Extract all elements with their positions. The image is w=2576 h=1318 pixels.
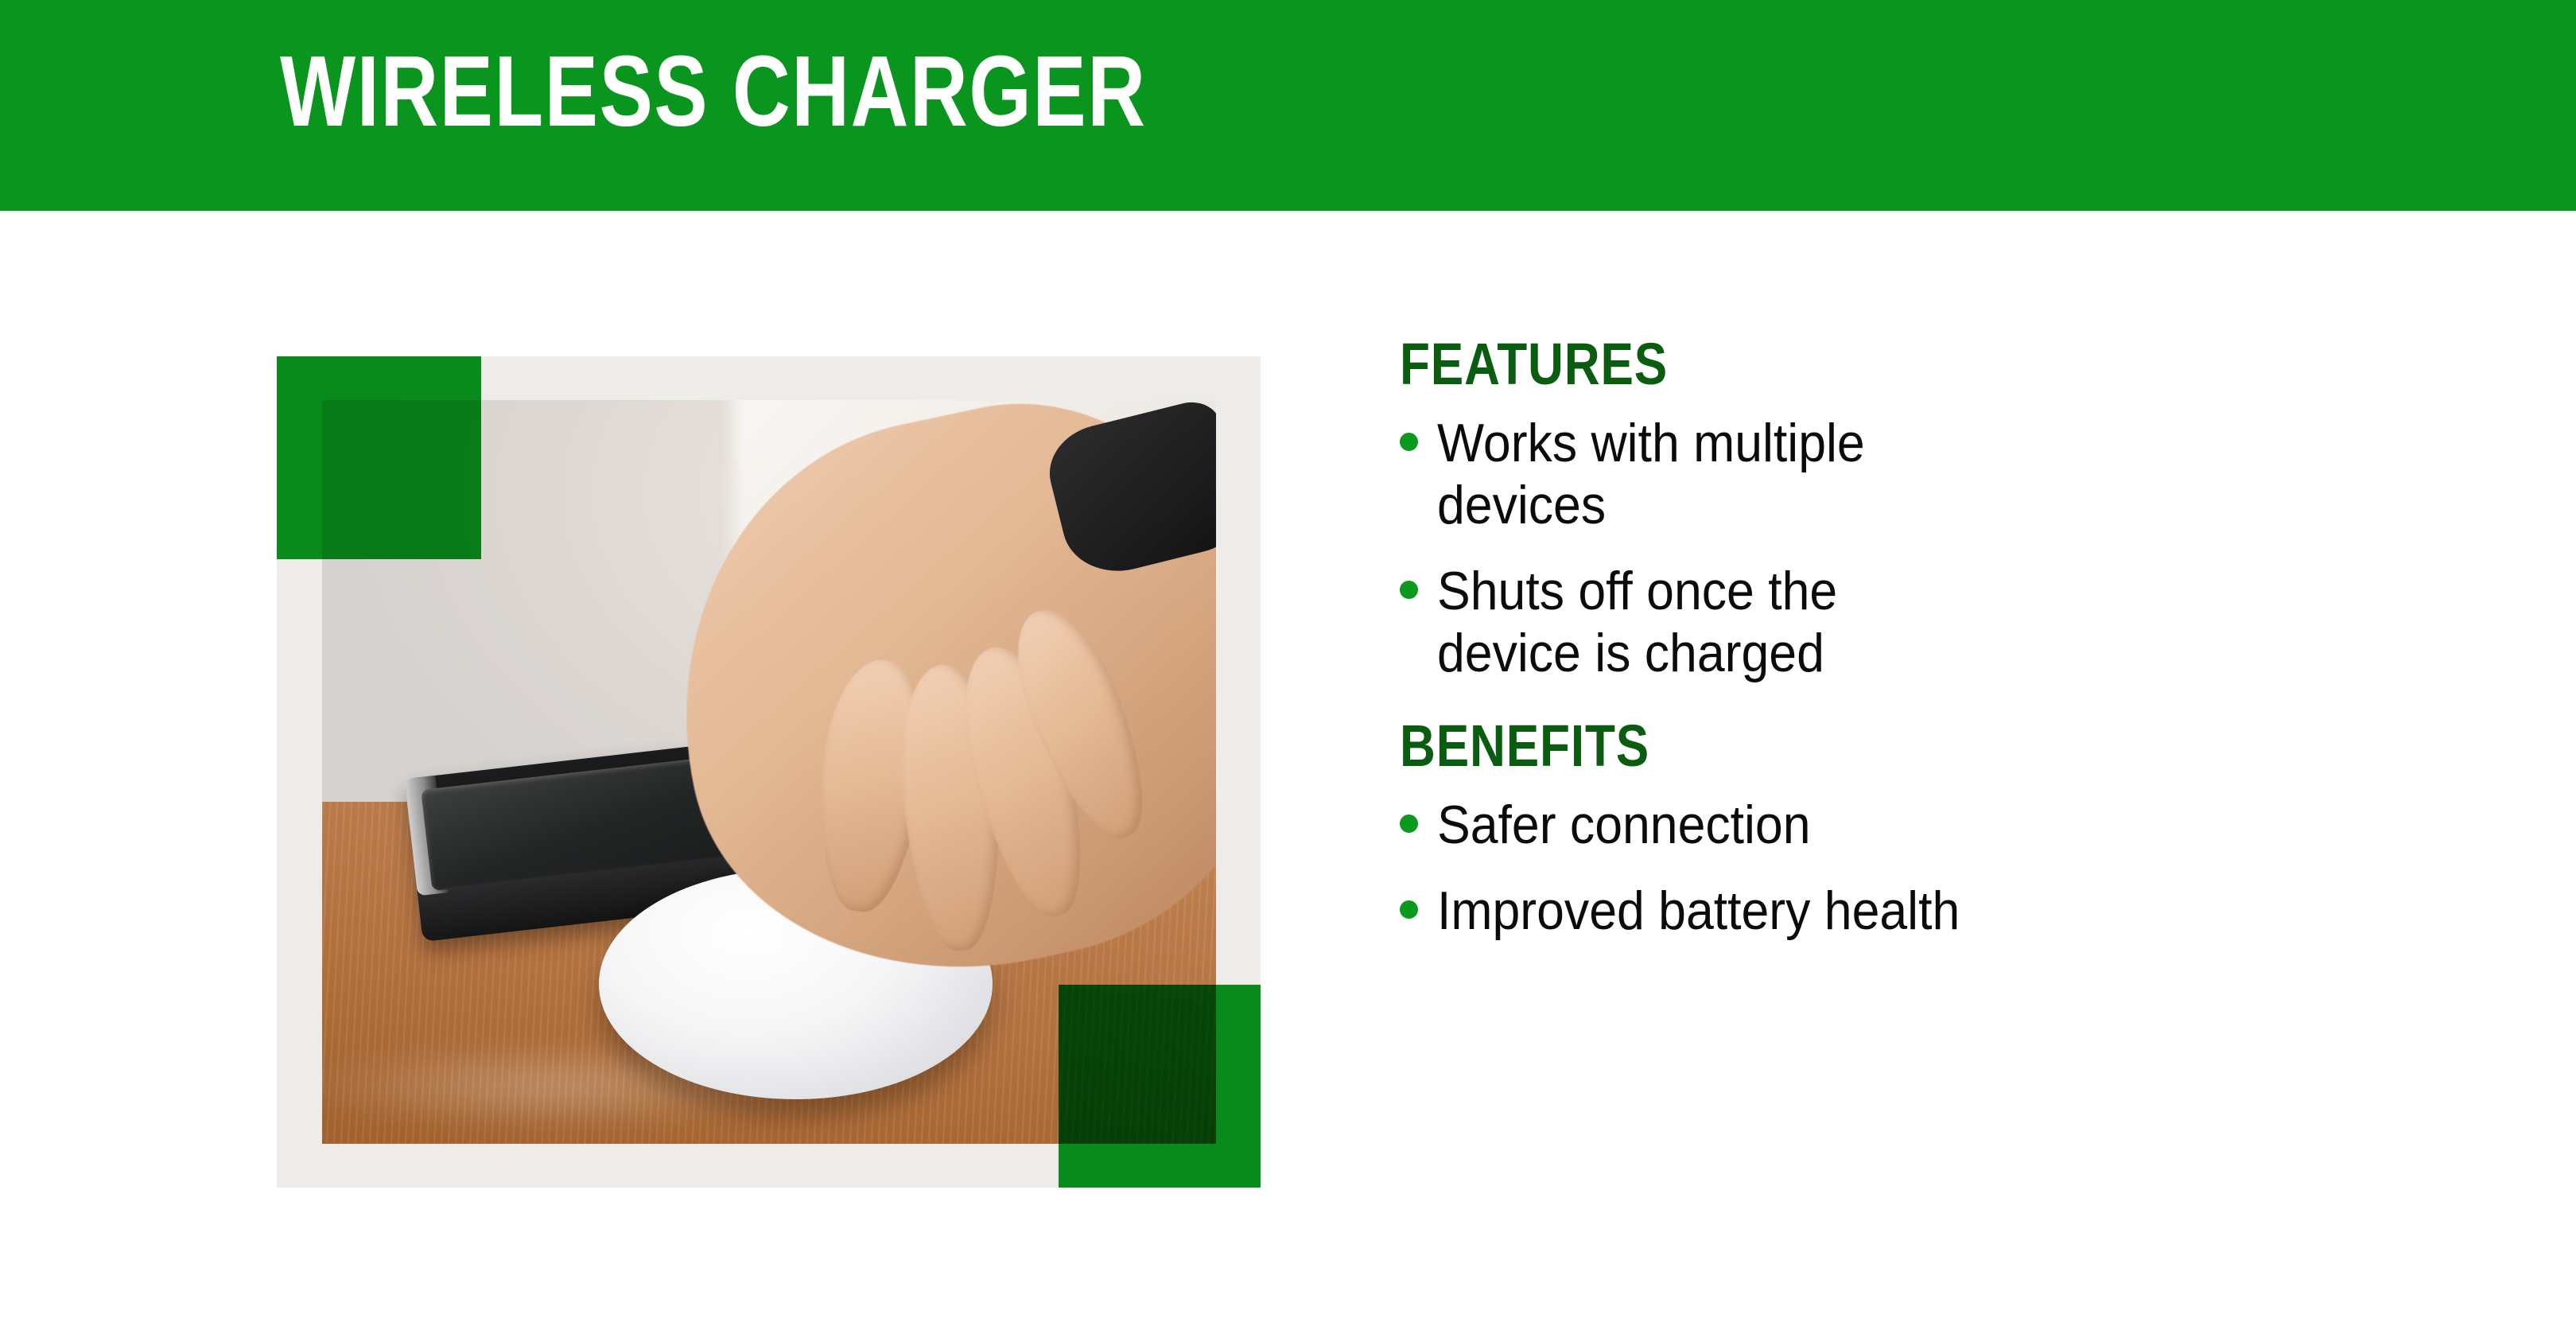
content-column: FEATURES Works with multiple devices Shu…	[1400, 334, 2465, 942]
list-item: Works with multiple devices	[1400, 412, 2465, 536]
benefits-list: Safer connection Improved battery health	[1400, 794, 2465, 942]
bullet-dot-icon	[1400, 900, 1418, 919]
bullet-dot-icon	[1400, 815, 1418, 833]
page-title: WIRELESS CHARGER	[280, 41, 1147, 142]
features-list: Works with multiple devices Shuts off on…	[1400, 412, 2465, 684]
section-heading-features: FEATURES	[1400, 334, 2295, 395]
list-item-label: Shuts off once the device is charged	[1437, 560, 1847, 684]
header-banner: WIRELESS CHARGER	[0, 0, 2576, 211]
list-item: Safer connection	[1400, 794, 2465, 856]
bullet-dot-icon	[1400, 433, 1418, 451]
accent-square-bottom-right	[1059, 985, 1261, 1188]
bullet-dot-icon	[1400, 581, 1418, 599]
list-item: Improved battery health	[1400, 880, 2465, 942]
product-image-block	[277, 356, 1261, 1188]
accent-square-top-left	[277, 356, 481, 559]
section-heading-benefits: BENEFITS	[1400, 716, 2295, 776]
list-item-label: Improved battery health	[1437, 880, 1960, 942]
list-item-label: Works with multiple devices	[1437, 412, 2037, 536]
list-item: Shuts off once the device is charged	[1400, 560, 2465, 684]
list-item-label: Safer connection	[1437, 794, 1811, 856]
